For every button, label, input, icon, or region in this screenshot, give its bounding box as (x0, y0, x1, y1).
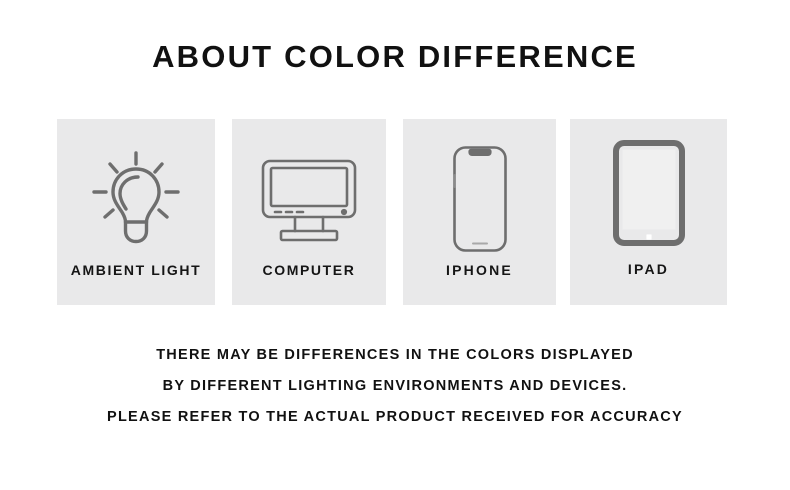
tablet-icon (570, 137, 727, 249)
light-bulb-icon (57, 143, 215, 255)
device-card-computer: COMPUTER (232, 119, 386, 305)
device-card-label: AMBIENT LIGHT (57, 262, 215, 278)
page-title: ABOUT COLOR DIFFERENCE (0, 38, 790, 76)
device-card-ipad: IPAD (570, 119, 727, 305)
disclaimer-footer: THERE MAY BE DIFFERENCES IN THE COLORS D… (0, 340, 790, 433)
disclaimer-line-1: THERE MAY BE DIFFERENCES IN THE COLORS D… (0, 340, 790, 371)
color-difference-infographic: ABOUT COLOR DIFFERENCE (0, 0, 790, 490)
device-card-label: COMPUTER (232, 262, 386, 278)
desktop-monitor-icon (232, 149, 386, 253)
device-card-label: IPAD (570, 261, 727, 277)
device-card-label: IPHONE (403, 262, 556, 278)
device-cards-row: AMBIENT LIGHT (57, 119, 733, 305)
device-card-iphone: IPHONE (403, 119, 556, 305)
disclaimer-line-2: BY DIFFERENT LIGHTING ENVIRONMENTS AND D… (0, 371, 790, 402)
smartphone-icon (403, 141, 556, 257)
device-card-ambient-light: AMBIENT LIGHT (57, 119, 215, 305)
disclaimer-line-3: PLEASE REFER TO THE ACTUAL PRODUCT RECEI… (0, 402, 790, 433)
